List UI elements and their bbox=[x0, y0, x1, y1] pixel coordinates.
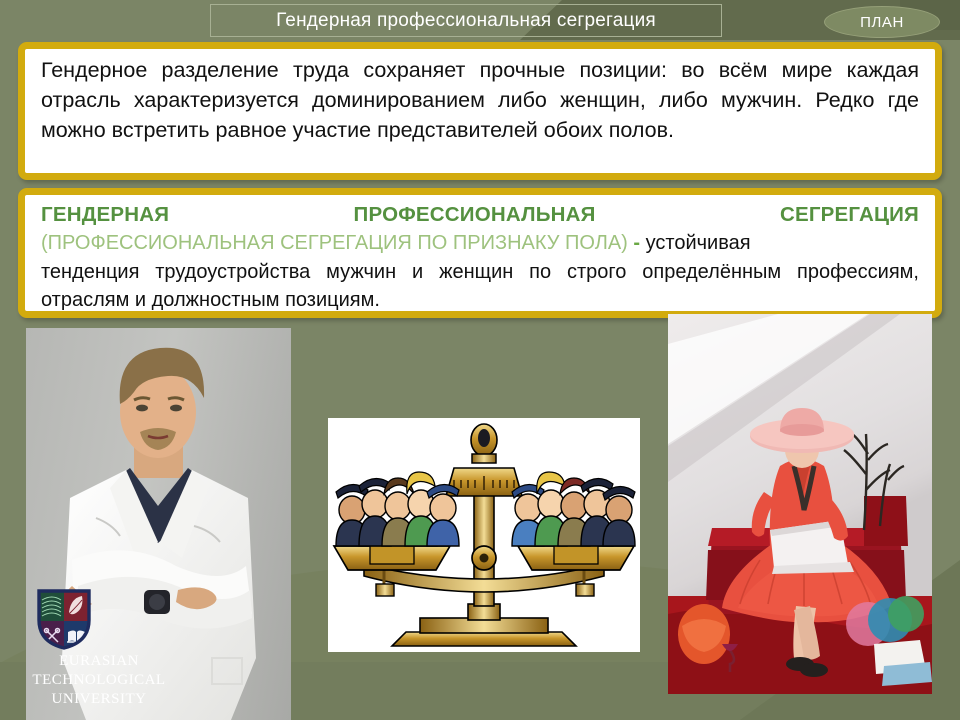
photo-woman-illustration bbox=[668, 314, 932, 694]
photo-scales bbox=[328, 418, 640, 652]
definition-box-inner: ГЕНДЕРНАЯ ПРОФЕССИОНАЛЬНАЯ СЕГРЕГАЦИЯ (П… bbox=[25, 195, 935, 314]
statement-box-inner: Гендерное разделение труда сохраняет про… bbox=[25, 49, 935, 145]
slide-title-text: Гендерная профессиональная сегрегация bbox=[276, 10, 656, 32]
photo-woman bbox=[668, 314, 932, 694]
statement-box: Гендерное разделение труда сохраняет про… bbox=[18, 42, 942, 180]
shield-icon bbox=[36, 588, 92, 650]
university-name-line1: EURASIAN bbox=[24, 652, 174, 671]
slide-root: Гендерная профессиональная сегрегация ПЛ… bbox=[0, 0, 960, 720]
definition-subterm: (ПРОФЕССИОНАЛЬНАЯ СЕГРЕГАЦИЯ ПО ПРИЗНАКУ… bbox=[41, 232, 628, 254]
statement-text: Гендерное разделение труда сохраняет про… bbox=[41, 55, 919, 145]
definition-text: ГЕНДЕРНАЯ ПРОФЕССИОНАЛЬНАЯ СЕГРЕГАЦИЯ (П… bbox=[41, 201, 919, 314]
definition-term: ГЕНДЕРНАЯ ПРОФЕССИОНАЛЬНАЯ СЕГРЕГАЦИЯ bbox=[41, 201, 919, 229]
definition-lead: устойчивая bbox=[646, 232, 751, 254]
slide-title: Гендерная профессиональная сегрегация bbox=[210, 4, 722, 37]
university-name-line3: UNIVERSITY bbox=[24, 690, 174, 709]
university-name-line2: TECHNOLOGICAL bbox=[24, 671, 174, 690]
plan-button[interactable]: ПЛАН bbox=[824, 6, 940, 38]
plan-button-label: ПЛАН bbox=[860, 14, 904, 31]
university-name: EURASIAN TECHNOLOGICAL UNIVERSITY bbox=[24, 652, 174, 709]
definition-box: ГЕНДЕРНАЯ ПРОФЕССИОНАЛЬНАЯ СЕГРЕГАЦИЯ (П… bbox=[18, 188, 942, 318]
shield-quadrant-waves bbox=[39, 591, 64, 621]
definition-body: тенденция трудоустройства мужчин и женщи… bbox=[41, 258, 919, 314]
university-logo: EURASIAN TECHNOLOGICAL UNIVERSITY bbox=[24, 588, 174, 716]
definition-dash: - bbox=[628, 232, 646, 254]
photo-scales-illustration bbox=[328, 418, 640, 652]
definition-subterm-line: (ПРОФЕССИОНАЛЬНАЯ СЕГРЕГАЦИЯ ПО ПРИЗНАКУ… bbox=[41, 229, 919, 257]
